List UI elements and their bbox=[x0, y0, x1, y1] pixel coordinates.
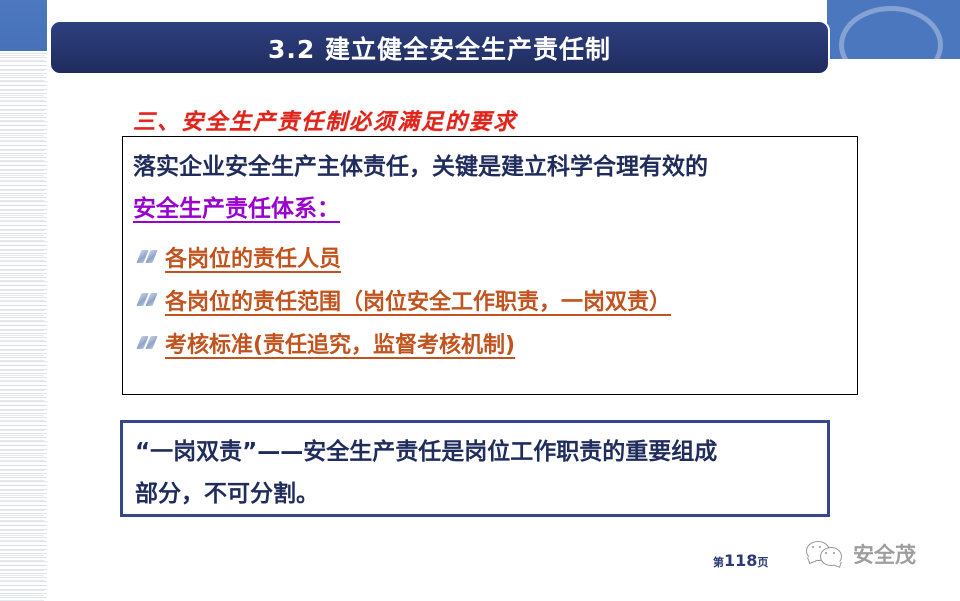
left-edge-blue-block bbox=[0, 0, 47, 51]
list-item: 各岗位的责任人员 bbox=[133, 235, 851, 278]
page-number-suffix: 页 bbox=[757, 556, 768, 569]
section-heading: 三、安全生产责任制必须满足的要求 bbox=[133, 104, 517, 136]
wechat-icon bbox=[806, 539, 844, 569]
arc-decoration-icon bbox=[839, 6, 943, 59]
highlight-paragraph: 安全生产责任体系： bbox=[133, 189, 340, 229]
page-number: 第118页 bbox=[713, 551, 768, 570]
highlight-paragraph-row: 安全生产责任体系： bbox=[133, 187, 851, 229]
left-edge-stripes-overlay bbox=[0, 51, 44, 601]
lead-paragraph: 落实企业安全生产主体责任，关键是建立科学合理有效的 bbox=[133, 147, 851, 187]
main-content-box: 落实企业安全生产主体责任，关键是建立科学合理有效的 安全生产责任体系： 各岗位的… bbox=[122, 136, 858, 395]
watermark: 安全茂 bbox=[806, 539, 916, 569]
bottom-callout-box: “一岗双责”——安全生产责任是岗位工作职责的重要组成 部分，不可分割。 bbox=[120, 420, 830, 517]
bottom-callout-line-1: “一岗双责”——安全生产责任是岗位工作职责的重要组成 bbox=[135, 431, 815, 473]
list-item-label: 考核标准(责任追究，监督考核机制) bbox=[165, 327, 515, 359]
list-item: 考核标准(责任追究，监督考核机制) bbox=[133, 321, 851, 364]
bottom-callout-line-2: 部分，不可分割。 bbox=[135, 473, 815, 515]
page-number-prefix: 第 bbox=[713, 556, 724, 569]
watermark-label: 安全茂 bbox=[853, 539, 916, 569]
list-item: 各岗位的责任范围（岗位安全工作职责，一岗双责） bbox=[133, 278, 851, 321]
bullet-list: 各岗位的责任人员 各岗位的责任范围（岗位安全工作职责，一岗双责） 考核标准(责任… bbox=[133, 235, 851, 364]
list-item-label: 各岗位的责任范围（岗位安全工作职责，一岗双责） bbox=[165, 284, 671, 316]
list-item-label: 各岗位的责任人员 bbox=[165, 241, 341, 273]
page-title: 3.2 建立健全安全生产责任制 bbox=[268, 30, 611, 66]
diamond-pair-bullet-icon bbox=[137, 248, 159, 266]
slide-title-bar: 3.2 建立健全安全生产责任制 bbox=[49, 20, 830, 75]
page-number-value: 118 bbox=[724, 551, 757, 570]
slide-canvas: 3.2 建立健全安全生产责任制 三、安全生产责任制必须满足的要求 落实企业安全生… bbox=[0, 0, 960, 601]
corner-decoration bbox=[827, 0, 960, 59]
diamond-pair-bullet-icon bbox=[137, 291, 159, 309]
diamond-pair-bullet-icon bbox=[137, 334, 159, 352]
